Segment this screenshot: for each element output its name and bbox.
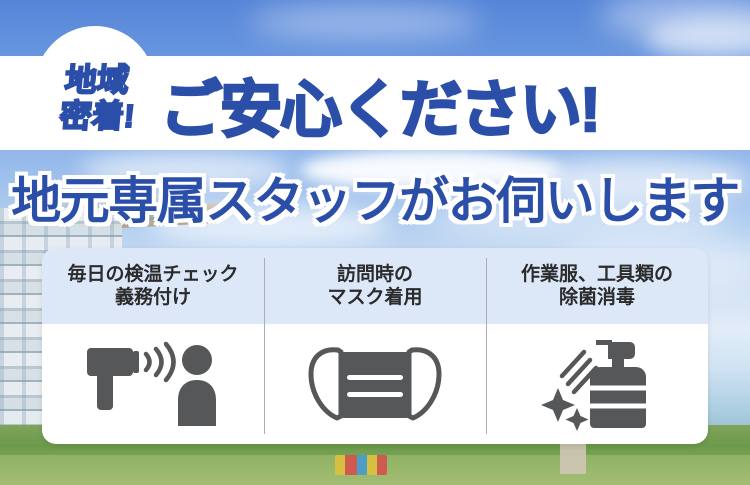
card-title-line-2: 義務付け — [115, 286, 191, 309]
card-title: 作業服、工具類の 除菌消毒 — [515, 248, 679, 324]
card-title-line-1: 毎日の検温チェック — [67, 263, 238, 286]
feature-card-temperature-check: 毎日の検温チェック 義務付け — [42, 248, 264, 444]
card-title: 毎日の検温チェック 義務付け — [61, 248, 244, 324]
card-icon-slot — [42, 324, 264, 444]
card-title: 訪問時の マスク着用 — [321, 248, 428, 324]
feature-card-mask-wearing: 訪問時の マスク着用 — [264, 248, 486, 444]
feature-card-disinfection: 作業服、工具類の 除菌消毒 — [486, 248, 708, 444]
card-title-line-1: 訪問時の — [337, 263, 413, 286]
subheadline: 地元専属スタッフがお伺いします — [0, 163, 750, 231]
badge-line-2: 密着! — [58, 100, 135, 132]
headline-text: ご安心ください! — [160, 59, 599, 149]
card-title-line-2: マスク着用 — [327, 286, 422, 309]
card-title-line-1: 作業服、工具類の — [521, 263, 673, 286]
feature-card-panel: 毎日の検温チェック 義務付け — [42, 248, 708, 444]
face-mask-icon — [305, 342, 445, 426]
subheadline-text: 地元専属スタッフがお伺いします — [11, 161, 739, 233]
cloud — [250, 5, 480, 39]
spray-bottle-icon — [538, 336, 656, 432]
card-icon-slot — [264, 324, 486, 444]
thermometer-gun-icon — [87, 338, 219, 430]
headline: ご安心ください! — [160, 58, 740, 150]
badge-line-1: 地域 — [64, 64, 131, 96]
playground-equipment — [335, 455, 387, 475]
park-building — [560, 440, 586, 474]
promo-banner: 地域 密着! ご安心ください! 地元専属スタッフがお伺いします 毎日の検温チェッ… — [0, 0, 750, 485]
card-title-line-2: 除菌消毒 — [559, 286, 635, 309]
card-icon-slot — [486, 324, 708, 444]
local-badge: 地域 密着! — [38, 50, 156, 146]
